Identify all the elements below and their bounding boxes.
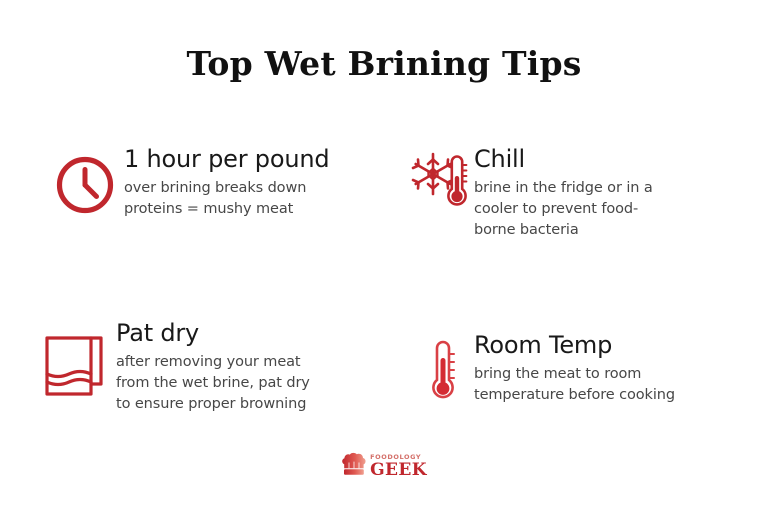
tip-heading-1: 1 hour per pound — [124, 144, 376, 174]
tip-card-room-temp: Room Temp bring the meat to room tempera… — [424, 330, 734, 406]
infographic-canvas: Top Wet Brining Tips 1 hour per pound ov… — [0, 0, 768, 512]
snowflake-thermometer-icon — [408, 144, 474, 214]
tip-card-pat-dry: Pat dry after removing your meat from th… — [34, 318, 374, 415]
tip-text-1: 1 hour per pound over brining breaks dow… — [124, 144, 376, 220]
tip-body-line: cooler to prevent food- — [474, 199, 728, 220]
tip-body-line: temperature before cooking — [474, 385, 734, 406]
folded-towel-icon — [34, 318, 116, 400]
clock-icon — [46, 144, 124, 216]
tip-body-line: from the wet brine, pat dry — [116, 373, 374, 394]
tip-heading-2: Chill — [474, 144, 728, 174]
tip-body-2: brine in the fridge or in a cooler to pr… — [474, 178, 728, 241]
tip-text-4: Room Temp bring the meat to room tempera… — [474, 330, 734, 406]
tip-body-1: over brining breaks down proteins = mush… — [124, 178, 376, 220]
foodology-geek-logo[interactable]: FOODOLOGY GEEK — [341, 452, 427, 481]
page-title: Top Wet Brining Tips — [0, 44, 768, 84]
tip-card-chill: Chill brine in the fridge or in a cooler… — [408, 144, 728, 241]
tip-body-line: borne bacteria — [474, 220, 728, 241]
chef-hat-icon — [341, 452, 367, 481]
tip-body-line: after removing your meat — [116, 352, 374, 373]
tip-body-line: to ensure proper browning — [116, 394, 374, 415]
tip-body-line: brine in the fridge or in a — [474, 178, 728, 199]
tip-body-line: over brining breaks down — [124, 178, 376, 199]
tip-body-4: bring the meat to room temperature befor… — [474, 364, 734, 406]
tip-text-3: Pat dry after removing your meat from th… — [116, 318, 374, 415]
tip-heading-3: Pat dry — [116, 318, 374, 348]
tip-body-3: after removing your meat from the wet br… — [116, 352, 374, 415]
tip-heading-4: Room Temp — [474, 330, 734, 360]
tips-grid: 1 hour per pound over brining breaks dow… — [34, 140, 734, 430]
logo-wordmark: FOODOLOGY GEEK — [370, 454, 427, 479]
footer: FOODOLOGY GEEK — [0, 452, 768, 481]
tip-card-1-hour-per-pound: 1 hour per pound over brining breaks dow… — [46, 144, 376, 220]
tip-body-line: proteins = mushy meat — [124, 199, 376, 220]
logo-main-text: GEEK — [370, 462, 427, 479]
tip-body-line: bring the meat to room — [474, 364, 734, 385]
tip-text-2: Chill brine in the fridge or in a cooler… — [474, 144, 728, 241]
thermometer-icon — [424, 330, 474, 406]
